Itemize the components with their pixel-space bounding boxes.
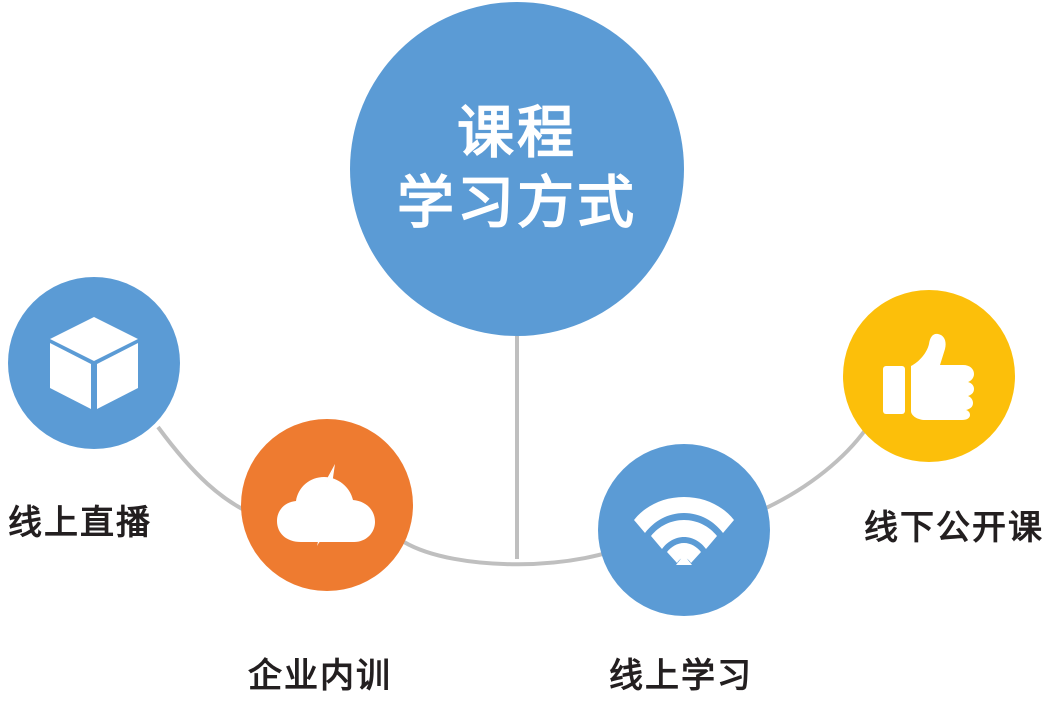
node-label-offline: 线下公开课 [864, 500, 1044, 549]
cloud-lightning-icon [275, 464, 379, 546]
infographic-canvas: 课程 学习方式 线上直播 企业内训 线上学习 [0, 0, 1050, 705]
hub-circle[interactable]: 课程 学习方式 [350, 2, 684, 336]
node-label-corporate: 企业内训 [248, 648, 392, 697]
hub-title-line-2: 学习方式 [397, 169, 637, 239]
node-label-live: 线上直播 [8, 495, 152, 544]
wifi-icon [634, 493, 734, 567]
node-label-online: 线上学习 [609, 648, 753, 697]
hub-title: 课程 学习方式 [397, 99, 637, 238]
cube-icon [48, 315, 140, 411]
node-circle-offline[interactable] [843, 290, 1015, 462]
node-circle-live[interactable] [8, 277, 180, 449]
connector-live-corporate [158, 427, 252, 514]
node-circle-corporate[interactable] [241, 419, 413, 591]
node-circle-online[interactable] [598, 444, 770, 616]
thumbs-up-icon [883, 332, 975, 420]
hub-title-line-1: 课程 [397, 99, 637, 169]
connector-online-offline [766, 429, 866, 508]
